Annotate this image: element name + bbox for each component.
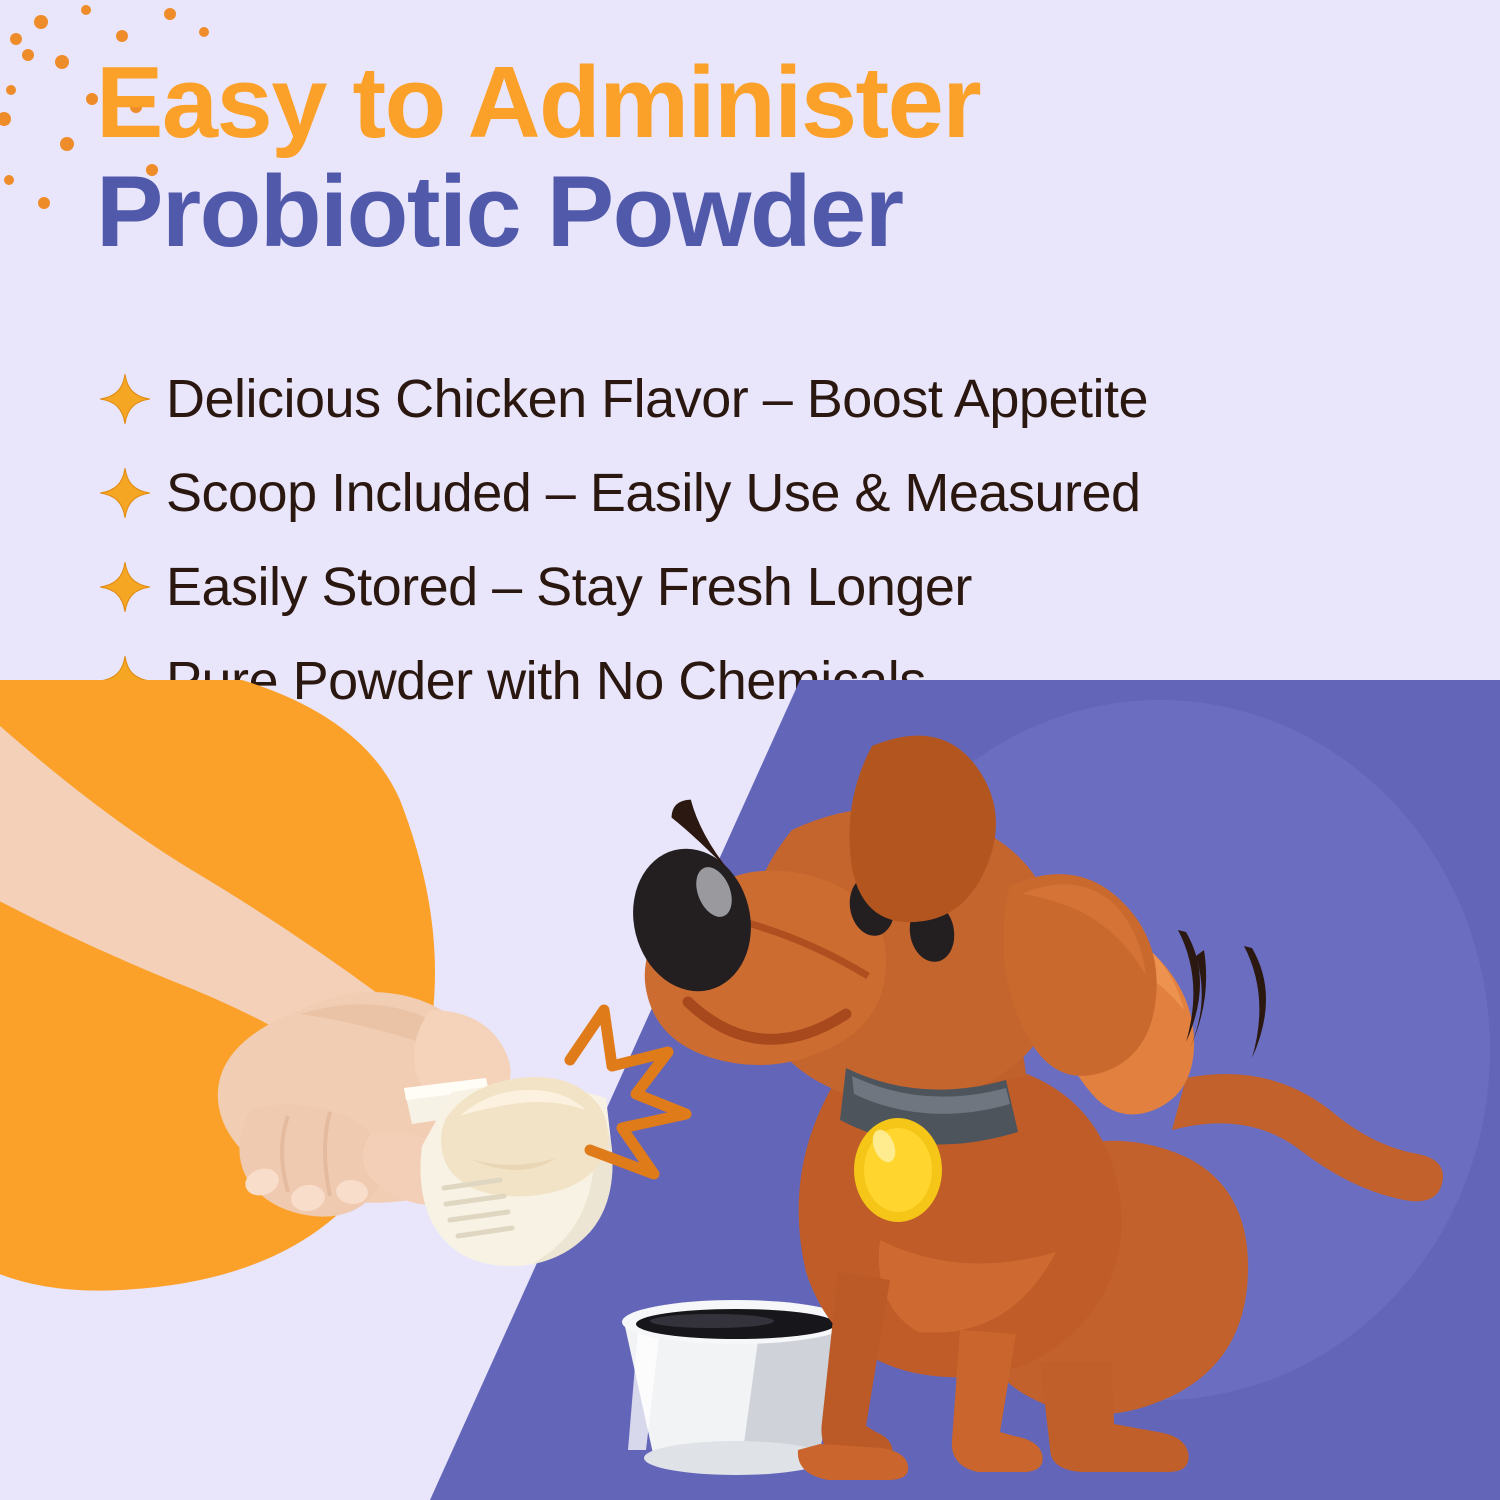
confetti-dot [116, 30, 128, 42]
confetti-dot [22, 49, 34, 61]
confetti-dot [199, 27, 209, 37]
sparkle-star-icon [98, 372, 152, 426]
list-item-label: Delicious Chicken Flavor – Boost Appetit… [166, 368, 1148, 430]
confetti-dot [34, 15, 48, 29]
illustration-scene [0, 680, 1500, 1500]
confetti-dot [6, 85, 16, 95]
confetti-dot [38, 197, 50, 209]
list-item: Delicious Chicken Flavor – Boost Appetit… [98, 352, 1438, 446]
confetti-dot [0, 112, 11, 126]
headline-secondary: Probiotic Powder [96, 161, 1426, 264]
measuring-scoop [404, 1077, 613, 1266]
feature-list: Delicious Chicken Flavor – Boost Appetit… [98, 352, 1438, 728]
list-item-label: Scoop Included – Easily Use & Measured [166, 462, 1141, 524]
dog-tag [854, 1118, 942, 1222]
list-item: Easily Stored – Stay Fresh Longer [98, 540, 1438, 634]
confetti-dot [10, 33, 22, 45]
confetti-dot [60, 137, 74, 151]
list-item-label: Easily Stored – Stay Fresh Longer [166, 556, 972, 618]
heading-block: Easy to Administer Probiotic Powder [96, 52, 1426, 264]
list-item: Scoop Included – Easily Use & Measured [98, 446, 1438, 540]
confetti-dot [4, 175, 14, 185]
infographic-canvas: Easy to Administer Probiotic Powder Deli… [0, 0, 1500, 1500]
sparkle-star-icon [98, 560, 152, 614]
confetti-dot [164, 8, 176, 20]
headline-primary: Easy to Administer [96, 52, 1426, 155]
sparkle-star-icon [98, 466, 152, 520]
confetti-dot [55, 55, 69, 69]
confetti-dot [81, 5, 91, 15]
